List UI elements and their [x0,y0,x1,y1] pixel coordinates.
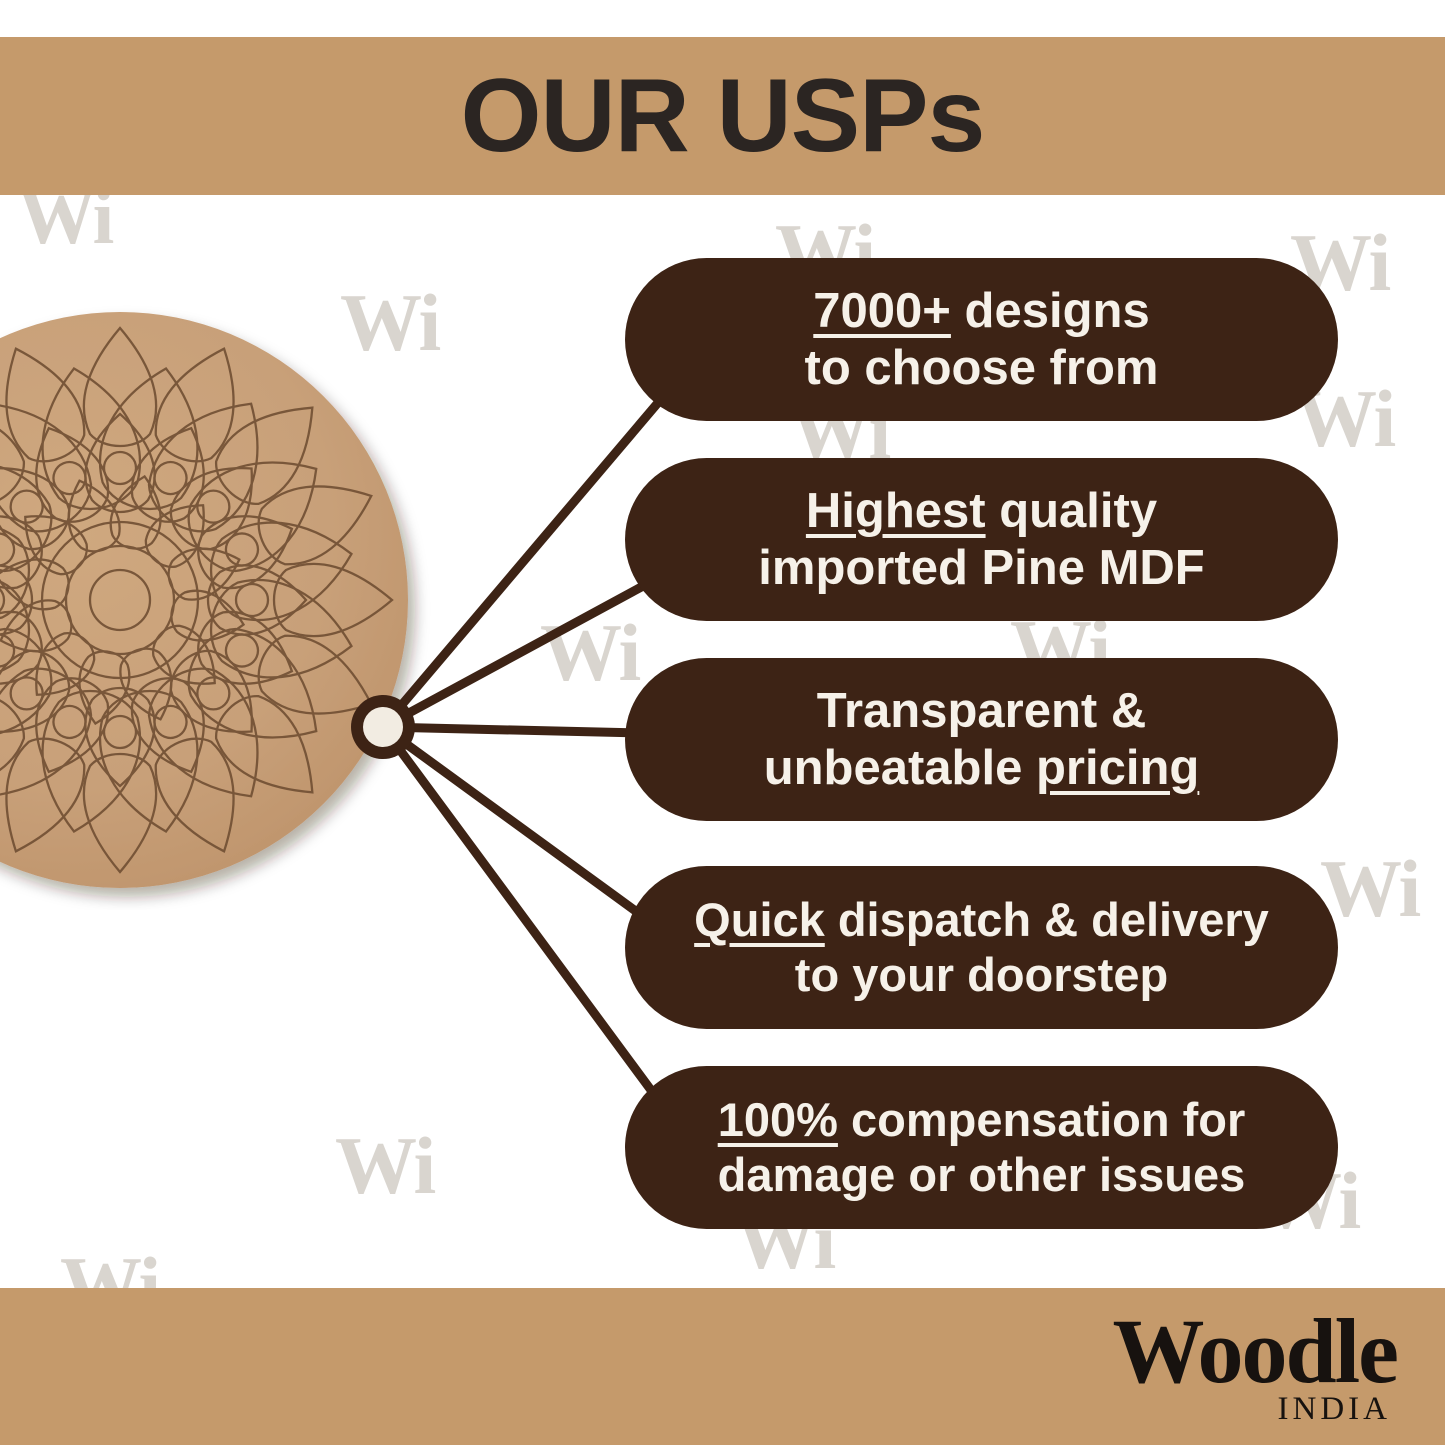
usp-pill-pricing[interactable]: Transparent & unbeatable pricing [625,658,1338,821]
usp-line-1: Quick dispatch & delivery [694,893,1269,948]
usp-line-2: to choose from [805,340,1159,397]
usp-pill-designs[interactable]: 7000+ designs to choose from [625,258,1338,421]
usp-line-2: unbeatable pricing [764,740,1200,797]
usp-pill-compensation[interactable]: 100% compensation for damage or other is… [625,1066,1338,1229]
infographic-canvas: Wi Wi Wi Wi Wi Wi Wi Wi Wi Wi Wi Wi Wi [0,0,1445,1445]
usp-pill-quality[interactable]: Highest quality imported Pine MDF [625,458,1338,621]
usp-pill-list: 7000+ designs to choose from Highest qua… [0,0,1445,1445]
usp-line-2: damage or other issues [718,1148,1246,1203]
brand-name: Woodle [1113,1305,1397,1397]
usp-line-1: Transparent & [817,683,1146,740]
usp-line-1: 100% compensation for [718,1093,1246,1148]
usp-line-2: to your doorstep [795,948,1168,1003]
brand-logo: Woodle INDIA [1113,1305,1397,1426]
usp-line-1: 7000+ designs [813,283,1149,340]
usp-line-1: Highest quality [806,483,1157,540]
usp-line-2: imported Pine MDF [758,540,1204,597]
page-title: OUR USPs [0,37,1445,195]
usp-pill-dispatch[interactable]: Quick dispatch & delivery to your doorst… [625,866,1338,1029]
